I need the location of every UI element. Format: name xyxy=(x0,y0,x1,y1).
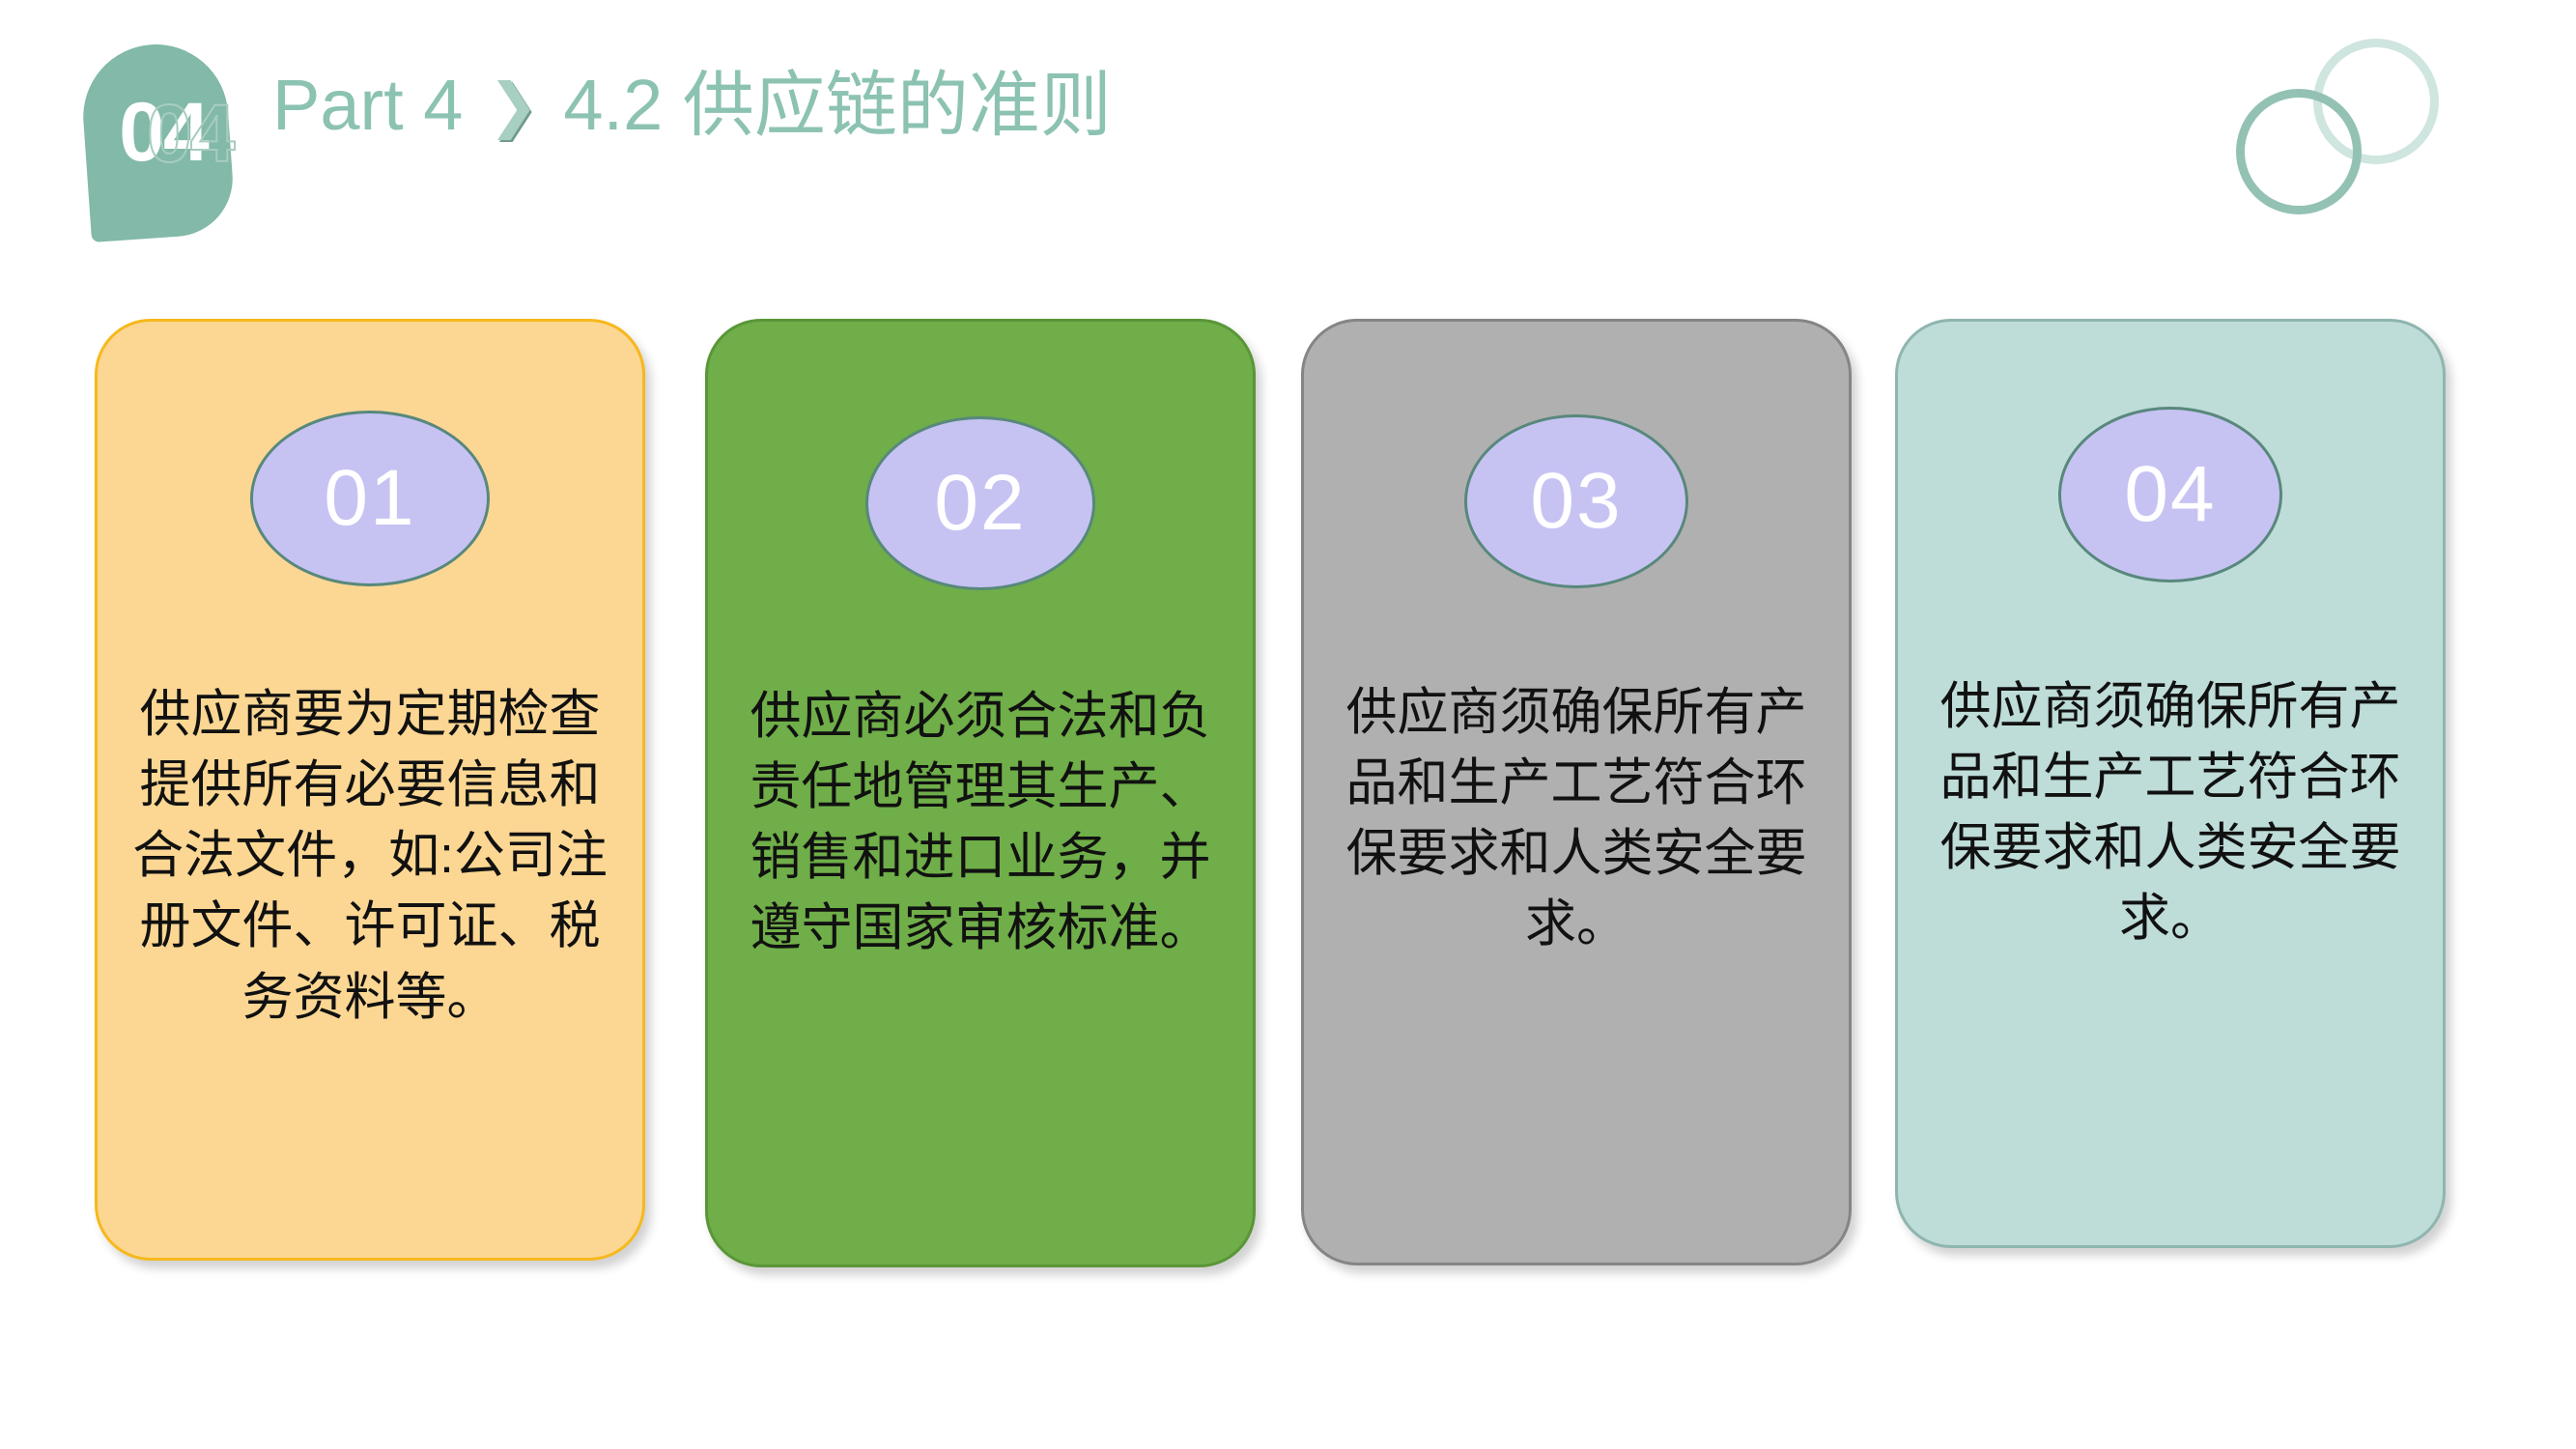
breadcrumb-part-label: Part 4 xyxy=(272,70,463,141)
card-number-label: 02 xyxy=(934,464,1026,543)
card-number-badge: 02 xyxy=(865,416,1095,590)
card-number-label: 04 xyxy=(2124,455,2216,534)
card-number-badge: 03 xyxy=(1464,414,1688,588)
card-body-text: 供应商要为定期检查提供所有必要信息和合法文件，如:公司注册文件、许可证、税务资料… xyxy=(98,679,642,1033)
decorative-rings xyxy=(2236,39,2439,222)
chevron-right-icon: ❯ xyxy=(488,75,538,135)
card-number-badge: 01 xyxy=(250,411,490,586)
section-number-outline-text: 04 xyxy=(147,93,292,174)
content-card[interactable]: 04 供应商须确保所有产品和生产工艺符合环保要求和人类安全要求。 xyxy=(1895,319,2446,1248)
card-number-label: 01 xyxy=(324,459,415,538)
content-card[interactable]: 02 供应商必须合法和负责任地管理其生产、销售和进口业务，并遵守国家审核标准。 xyxy=(705,319,1256,1267)
presentation-slide: 04 04 Part 4 ❯ 4.2 供应链的准则 01 供应商要为定期检查提供… xyxy=(0,0,2576,1449)
card-body-text: 供应商须确保所有产品和生产工艺符合环保要求和人类安全要求。 xyxy=(1304,677,1849,960)
breadcrumb: Part 4 ❯ 4.2 供应链的准则 xyxy=(272,70,1112,141)
card-body-text: 供应商须确保所有产品和生产工艺符合环保要求和人类安全要求。 xyxy=(1898,671,2443,954)
card-number-badge: 04 xyxy=(2058,407,2282,582)
section-number-badge: 04 04 xyxy=(85,44,269,238)
card-body-text: 供应商必须合法和负责任地管理其生产、销售和进口业务，并遵守国家审核标准。 xyxy=(708,681,1253,964)
content-card[interactable]: 03 供应商须确保所有产品和生产工艺符合环保要求和人类安全要求。 xyxy=(1301,319,1852,1265)
card-number-label: 03 xyxy=(1530,462,1622,541)
circle-outline-dark-icon xyxy=(2236,89,2362,214)
content-card-list: 01 供应商要为定期检查提供所有必要信息和合法文件，如:公司注册文件、许可证、税… xyxy=(0,319,2576,1285)
page-title: 4.2 供应链的准则 xyxy=(563,70,1111,141)
content-card[interactable]: 01 供应商要为定期检查提供所有必要信息和合法文件，如:公司注册文件、许可证、税… xyxy=(95,319,645,1261)
slide-header: 04 04 Part 4 ❯ 4.2 供应链的准则 xyxy=(0,0,2576,251)
